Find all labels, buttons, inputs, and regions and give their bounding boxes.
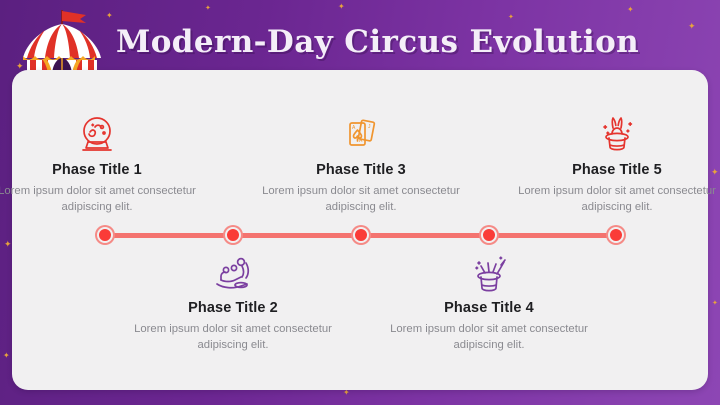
phase-title: Phase Title 5	[512, 162, 720, 178]
phase-body: Lorem ipsum dolor sit amet consectetur a…	[384, 321, 594, 353]
timeline-node-4[interactable]	[481, 227, 497, 243]
timeline-node-1[interactable]	[97, 227, 113, 243]
timeline-node-2[interactable]	[225, 227, 241, 243]
phase-body: Lorem ipsum dolor sit amet consectetur a…	[256, 183, 466, 215]
phase-item-4[interactable]: Phase Title 4 Lorem ipsum dolor sit amet…	[384, 252, 594, 353]
decorative-star-icon: ✦	[712, 300, 718, 307]
phase-title: Phase Title 3	[256, 162, 466, 178]
decorative-star-icon: ✦	[508, 14, 514, 21]
phase-body: Lorem ipsum dolor sit amet consectetur a…	[512, 183, 720, 215]
svg-text:J: J	[368, 124, 371, 130]
decorative-star-icon: ✦	[3, 352, 10, 360]
decorative-star-icon: ✦	[338, 3, 345, 11]
crystal-ball-icon	[0, 114, 202, 156]
circus-tent-icon	[14, 6, 110, 78]
decorative-star-icon: ✦	[205, 5, 211, 12]
timeline-node-3[interactable]	[353, 227, 369, 243]
phase-title: Phase Title 4	[384, 300, 594, 316]
phase-body: Lorem ipsum dolor sit amet consectetur a…	[0, 183, 202, 215]
decorative-star-icon: ✦	[343, 389, 350, 397]
phase-title: Phase Title 1	[0, 162, 202, 178]
phase-item-1[interactable]: Phase Title 1 Lorem ipsum dolor sit amet…	[0, 114, 202, 215]
acrobat-juggler-icon	[128, 252, 338, 294]
decorative-star-icon: ✦	[4, 240, 12, 249]
timeline-node-5[interactable]	[608, 227, 624, 243]
svg-text:A: A	[352, 125, 356, 131]
phase-item-5[interactable]: Phase Title 5 Lorem ipsum dolor sit amet…	[512, 114, 720, 215]
slide-canvas: ✦✦✦✦✦✦✦✦✦✦✦✦	[0, 0, 720, 405]
page-title: Modern-Day Circus Evolution	[116, 24, 639, 60]
phase-item-3[interactable]: A A J Phase Title 3 Lorem ipsum dolor si…	[256, 114, 466, 215]
decorative-star-icon: ✦	[688, 22, 696, 31]
playing-cards-icon: A A J	[256, 114, 466, 156]
phase-title: Phase Title 2	[128, 300, 338, 316]
phase-item-2[interactable]: Phase Title 2 Lorem ipsum dolor sit amet…	[128, 252, 338, 353]
phase-body: Lorem ipsum dolor sit amet consectetur a…	[128, 321, 338, 353]
magic-hat-rabbit-icon	[512, 114, 720, 156]
magic-hat-wand-icon	[384, 252, 594, 294]
decorative-star-icon: ✦	[627, 6, 634, 14]
